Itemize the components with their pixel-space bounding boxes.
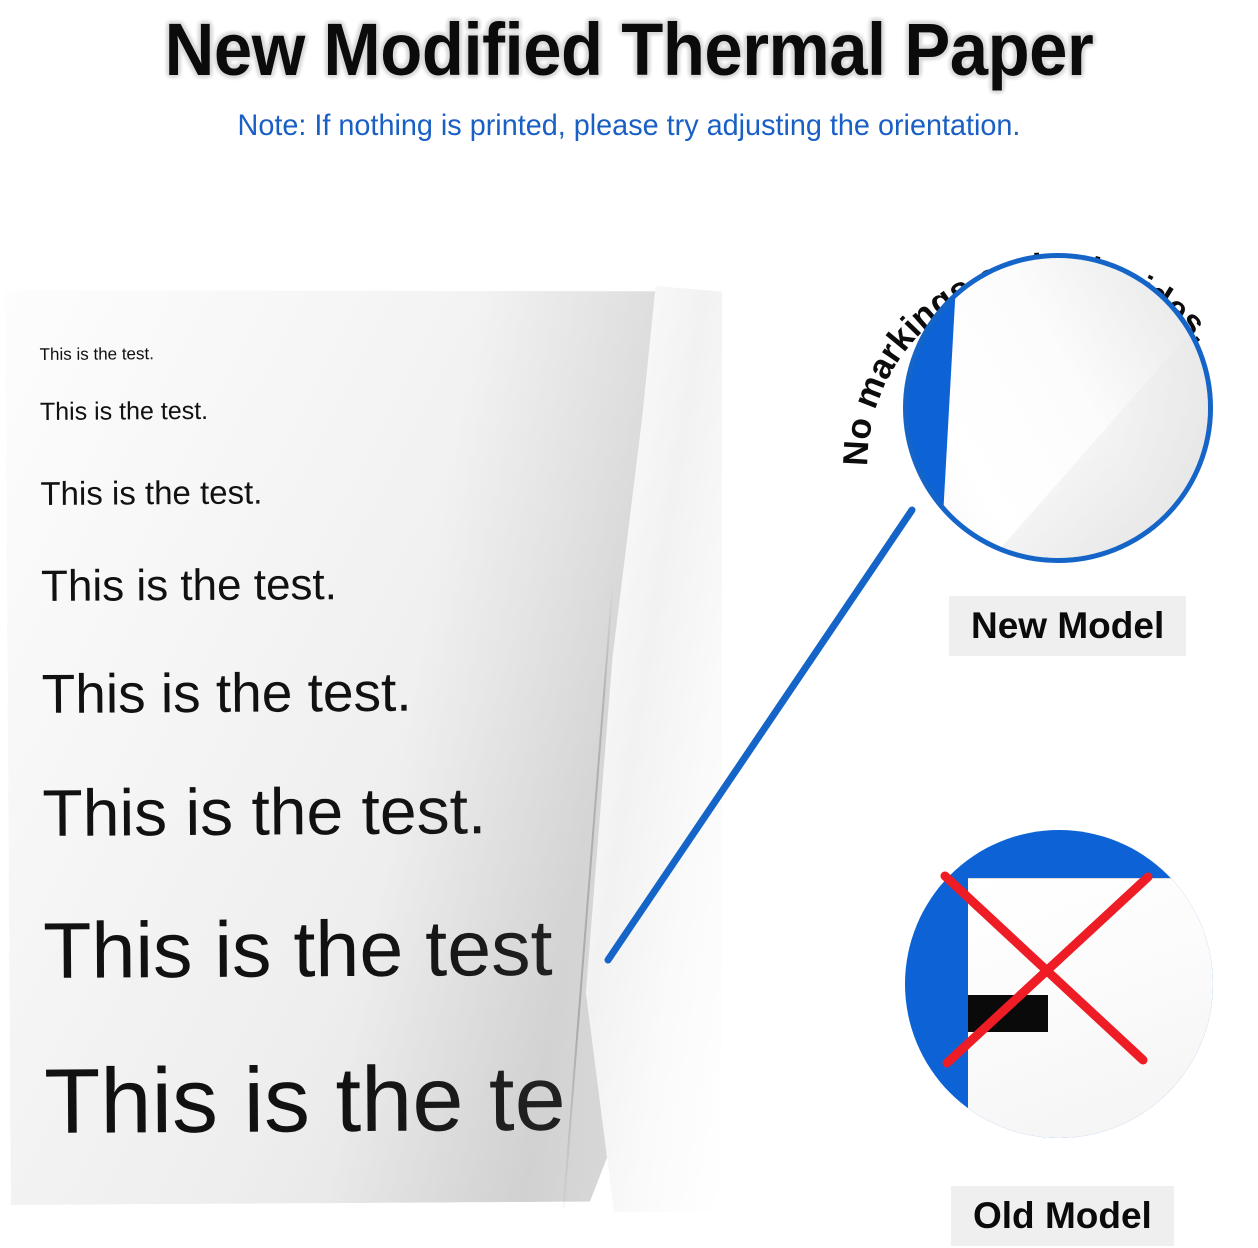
test-line: This is the test. <box>41 660 411 726</box>
test-line: This is the test. <box>40 397 208 427</box>
old-model-black-bar <box>968 995 1048 1032</box>
new-model-circle <box>903 253 1213 563</box>
test-line: This is the test. <box>41 560 337 612</box>
old-model-label: Old Model <box>951 1186 1174 1246</box>
test-line: This is the test. <box>42 772 486 851</box>
test-line: This is the test <box>43 902 553 997</box>
test-line: This is the test. <box>40 344 154 365</box>
test-line: This is the test. <box>40 474 262 513</box>
thermal-paper-sample: This is the test. This is the test. This… <box>0 280 740 1220</box>
old-model-paper-text: This page is not pri <box>905 1035 910 1138</box>
new-model-label: New Model <box>949 596 1186 656</box>
new-model-paper-strip <box>903 253 1213 563</box>
old-model-circle: This page is not pri <box>905 830 1213 1138</box>
page-title: New Modified Thermal Paper <box>44 8 1214 92</box>
test-line: This is the te <box>44 1047 566 1155</box>
page-note: Note: If nothing is printed, please try … <box>25 108 1233 144</box>
poster-canvas: New Modified Thermal Paper Note: If noth… <box>0 0 1258 1248</box>
